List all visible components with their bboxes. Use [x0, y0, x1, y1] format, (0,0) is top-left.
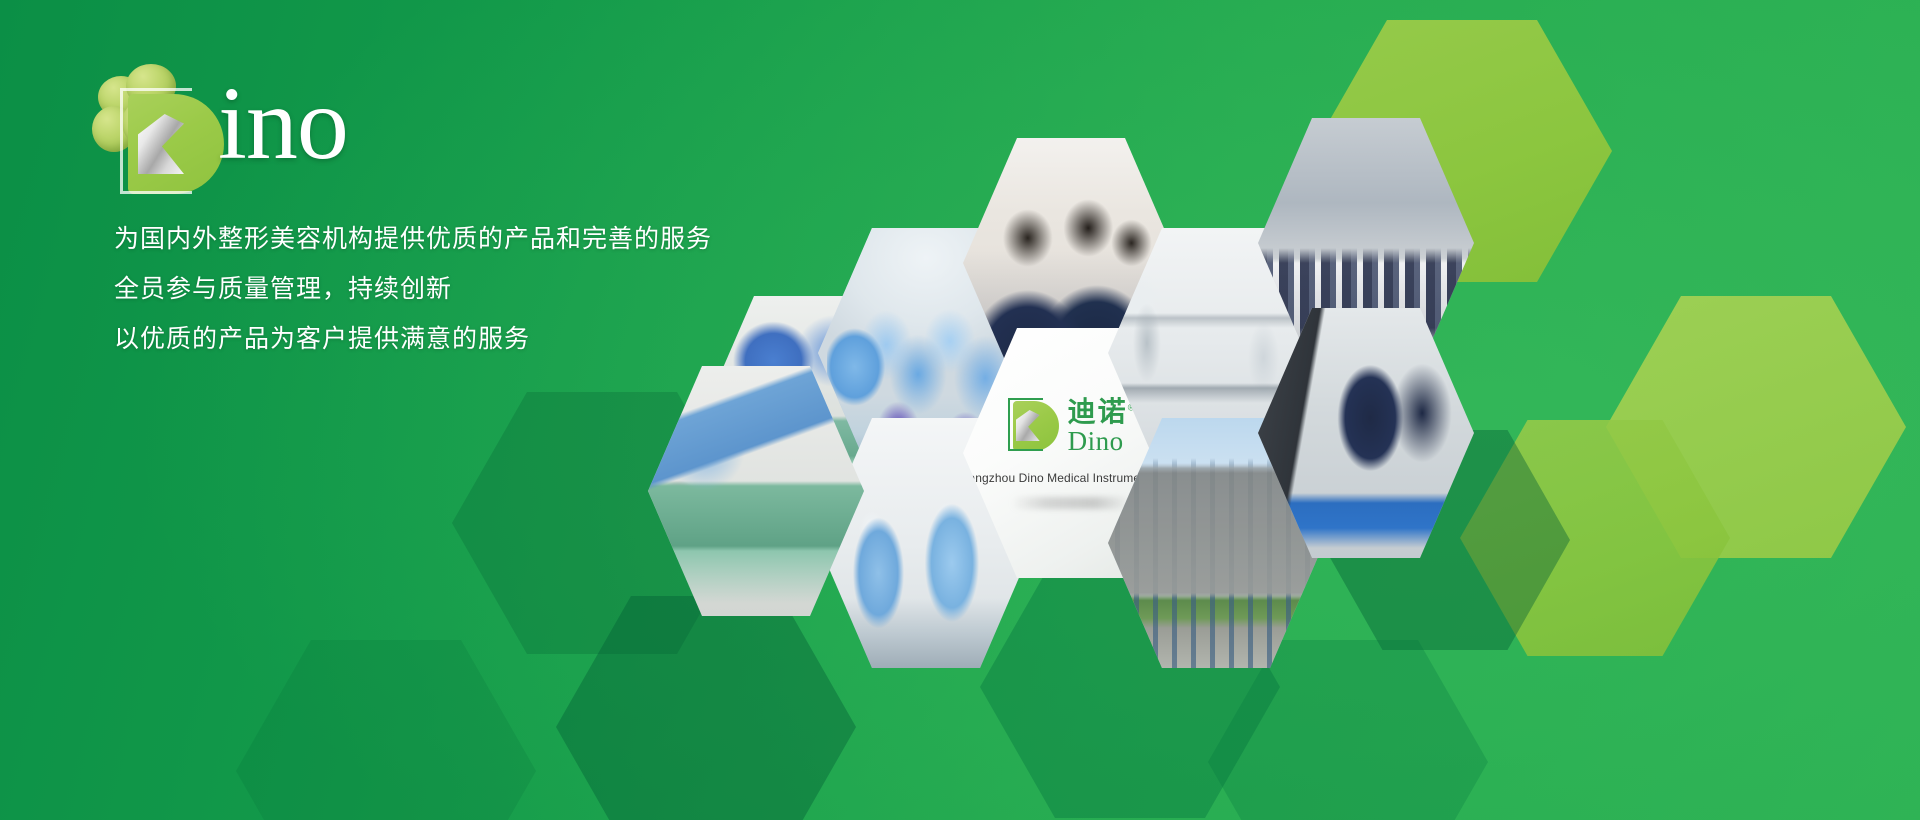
tagline-1: 为国内外整形美容机构提供优质的产品和完善的服务 [114, 214, 712, 264]
tagline-2: 全员参与质量管理，持续创新 [114, 264, 712, 314]
tagline-3: 以优质的产品为客户提供满意的服务 [114, 314, 712, 364]
brand-wordmark: ino [218, 72, 348, 176]
tagline-group: 为国内外整形美容机构提供优质的产品和完善的服务 全员参与质量管理，持续创新 以优… [114, 214, 712, 364]
dino-leaf-d-icon [120, 88, 224, 200]
brand-logo: ino [92, 62, 452, 182]
hero-banner: ino 为国内外整形美容机构提供优质的产品和完善的服务 全员参与质量管理，持续创… [0, 0, 1920, 820]
logo-lockup: 迪诺® Dino [1008, 398, 1137, 455]
logo-reflection [1011, 497, 1131, 509]
logo-en-name: Dino [1068, 428, 1124, 455]
logo-cn-name: 迪诺® [1068, 398, 1137, 426]
dino-leaf-d-icon [1008, 398, 1060, 454]
deco-hex-dark-far-left [236, 640, 536, 820]
